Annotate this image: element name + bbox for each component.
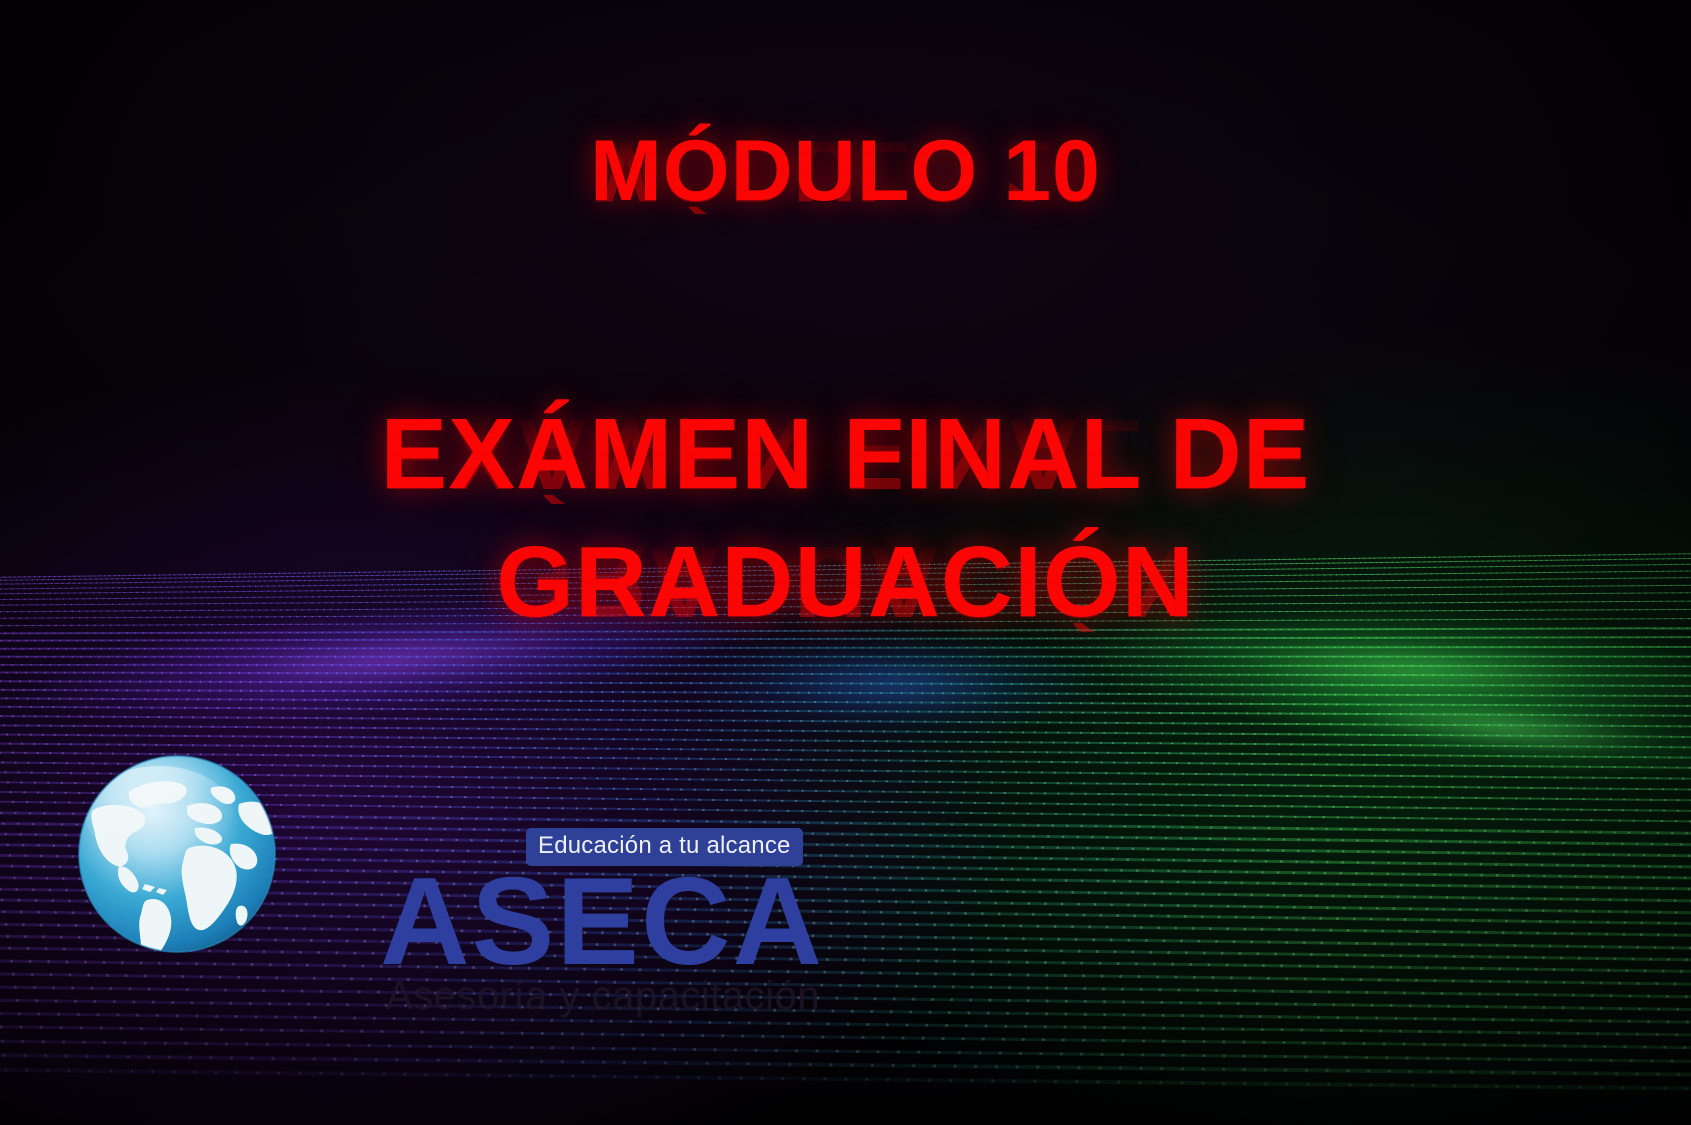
module-title: MÓDULO 10 MÓDULO 10 <box>0 128 1691 214</box>
globe-icon <box>71 748 283 960</box>
exam-title-line-1-text: EXÁMEN FINAL DE <box>381 398 1311 510</box>
module-title-block: MÓDULO 10 MÓDULO 10 <box>0 128 1691 214</box>
logo-wordmark: ASECA <box>380 860 824 984</box>
logo-subtitle: Asesoría y capacitación <box>386 974 820 1019</box>
exam-title-line-2-text: GRADUACIÓN <box>496 526 1195 638</box>
exam-title-line-2: GRADUACIÓN GRADUACIÓN <box>0 532 1691 632</box>
presentation-slide: MÓDULO 10 MÓDULO 10 EXÁMEN FINAL DE EXÁM… <box>0 0 1691 1125</box>
aseca-logo: Educación a tu alcance ASECA Asesoría y … <box>66 742 766 1012</box>
exam-title-line-1: EXÁMEN FINAL DE EXÁMEN FINAL DE <box>0 404 1691 504</box>
logo-text-group: Educación a tu alcance ASECA Asesoría y … <box>304 742 764 992</box>
module-title-text: MÓDULO 10 <box>590 123 1101 219</box>
exam-title-block: EXÁMEN FINAL DE EXÁMEN FINAL DE GRADUACI… <box>0 404 1691 632</box>
